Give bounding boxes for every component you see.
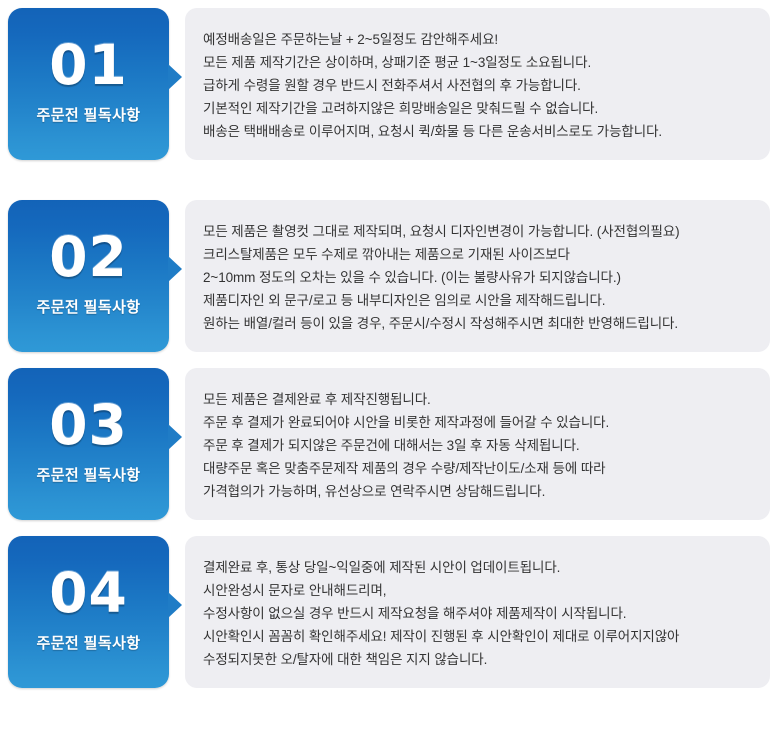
badge-number: 03 [8,398,169,453]
arrow-right-icon [168,424,182,450]
notice-line: 배송은 택배배송로 이루어지며, 요청시 퀵/화물 등 다른 운송서비스로도 가… [203,120,752,143]
badge-box: 02 주문전 필독사항 [8,200,169,352]
badge-box: 03 주문전 필독사항 [8,368,169,520]
badge-box: 01 주문전 필독사항 [8,8,169,160]
badge-caption: 주문전 필독사항 [8,464,169,485]
notice-line: 주문 후 결제가 완료되어야 시안을 비롯한 제작과정에 들어갈 수 있습니다. [203,411,752,434]
notice-line: 수정되지못한 오/탈자에 대한 책임은 지지 않습니다. [203,648,752,671]
notice-line: 크리스탈제품은 모두 수제로 깎아내는 제품으로 기재된 사이즈보다 [203,243,752,266]
notice-line: 모든 제품은 결제완료 후 제작진행됩니다. [203,388,752,411]
notice-line: 예정배송일은 주문하는날 + 2~5일정도 감안해주세요! [203,28,752,51]
notice-row: 03 주문전 필독사항 모든 제품은 결제완료 후 제작진행됩니다. 주문 후 … [0,336,770,504]
notice-row: 01 주문전 필독사항 예정배송일은 주문하는날 + 2~5일정도 감안해주세요… [0,0,770,168]
notice-panel-02: 모든 제품은 촬영컷 그대로 제작되며, 요청시 디자인변경이 가능합니다. (… [185,200,770,352]
notice-row: 02 주문전 필독사항 모든 제품은 촬영컷 그대로 제작되며, 요청시 디자인… [0,168,770,336]
arrow-right-icon [168,64,182,90]
notice-line: 가격협의가 가능하며, 유선상으로 연락주시면 상담해드립니다. [203,480,752,503]
notice-badge-04: 04 주문전 필독사항 [0,536,169,672]
arrow-right-icon [168,256,182,282]
badge-number: 02 [8,230,169,285]
notice-line: 원하는 배열/컬러 등이 있을 경우, 주문시/수정시 작성해주시면 최대한 반… [203,312,752,335]
notice-line: 결제완료 후, 통상 당일~익일중에 제작된 시안이 업데이트됩니다. [203,556,752,579]
notice-line: 급하게 수령을 원할 경우 반드시 전화주셔서 사전협의 후 가능합니다. [203,74,752,97]
notice-badge-02: 02 주문전 필독사항 [0,200,169,336]
notice-panel-04: 결제완료 후, 통상 당일~익일중에 제작된 시안이 업데이트됩니다. 시안완성… [185,536,770,688]
badge-caption: 주문전 필독사항 [8,104,169,125]
badge-number: 01 [8,38,169,93]
notice-line: 제품디자인 외 문구/로고 등 내부디자인은 임의로 시안을 제작해드립니다. [203,289,752,312]
notice-badge-03: 03 주문전 필독사항 [0,368,169,504]
notice-line: 시안완성시 문자로 안내해드리며, [203,579,752,602]
notice-line: 주문 후 결제가 되지않은 주문건에 대해서는 3일 후 자동 삭제됩니다. [203,434,752,457]
notice-panel-03: 모든 제품은 결제완료 후 제작진행됩니다. 주문 후 결제가 완료되어야 시안… [185,368,770,520]
notice-line: 모든 제품은 촬영컷 그대로 제작되며, 요청시 디자인변경이 가능합니다. (… [203,220,752,243]
notice-line: 기본적인 제작기간을 고려하지않은 희망배송일은 맞춰드릴 수 없습니다. [203,97,752,120]
notice-panel-01: 예정배송일은 주문하는날 + 2~5일정도 감안해주세요! 모든 제품 제작기간… [185,8,770,160]
notice-row: 04 주문전 필독사항 결제완료 후, 통상 당일~익일중에 제작된 시안이 업… [0,504,770,672]
notice-line: 시안확인시 꼼꼼히 확인해주세요! 제작이 진행된 후 시안확인이 제대로 이루… [203,625,752,648]
notice-line: 대량주문 혹은 맞춤주문제작 제품의 경우 수량/제작난이도/소재 등에 따라 [203,457,752,480]
notice-page: 01 주문전 필독사항 예정배송일은 주문하는날 + 2~5일정도 감안해주세요… [0,0,770,756]
notice-line: 2~10mm 정도의 오차는 있을 수 있습니다. (이는 불량사유가 되지않습… [203,266,752,289]
notice-badge-01: 01 주문전 필독사항 [0,8,169,168]
badge-caption: 주문전 필독사항 [8,296,169,317]
notice-line: 수정사항이 없으실 경우 반드시 제작요청을 해주셔야 제품제작이 시작됩니다. [203,602,752,625]
arrow-right-icon [168,592,182,618]
badge-caption: 주문전 필독사항 [8,632,169,653]
badge-box: 04 주문전 필독사항 [8,536,169,688]
notice-line: 모든 제품 제작기간은 상이하며, 상패기준 평균 1~3일정도 소요됩니다. [203,51,752,74]
badge-number: 04 [8,566,169,621]
